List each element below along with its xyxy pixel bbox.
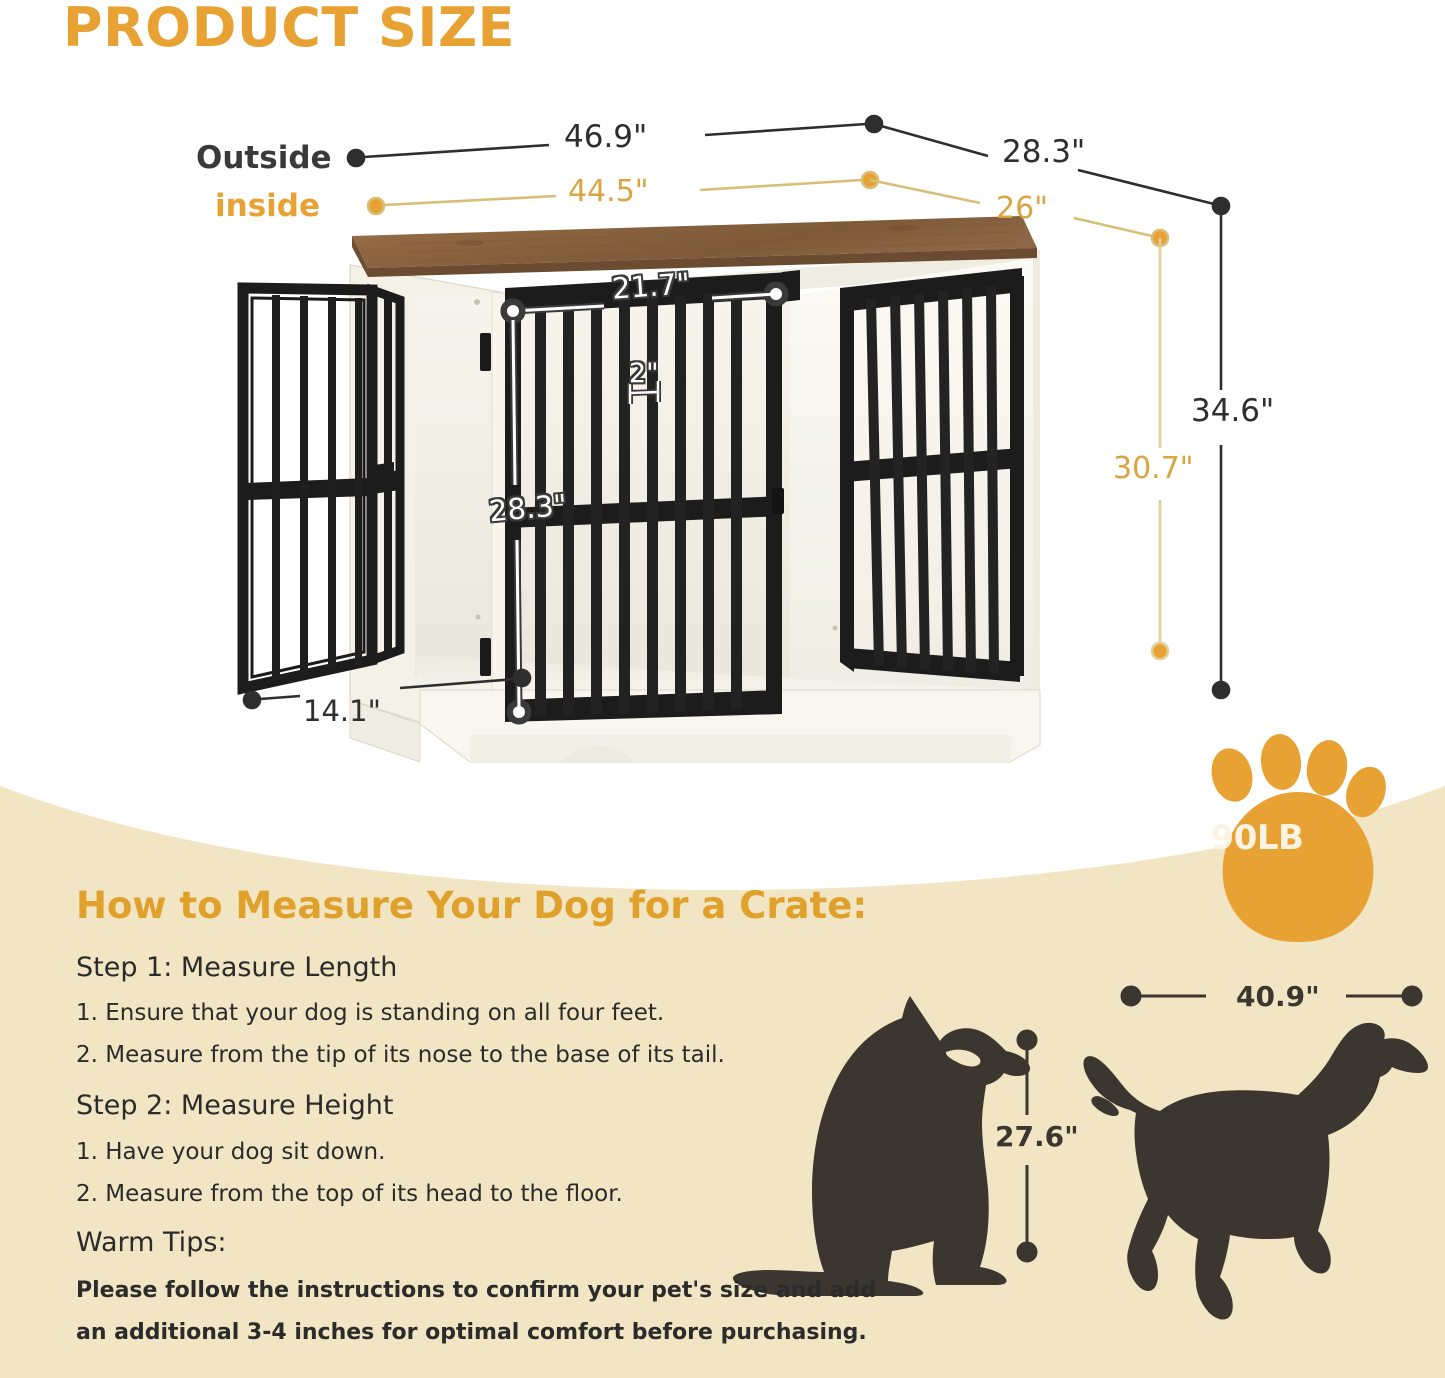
dim-line-inside-height (1152, 238, 1168, 659)
howto-section-heading: How to Measure Your Dog for a Crate: (76, 884, 867, 927)
dim-label-outside-width: 46.9" (564, 119, 647, 155)
step2-line1: 1. Have your dog sit down. (76, 1139, 385, 1165)
dim-label-door-height: 28.3" (488, 488, 569, 529)
step1-line1: 1. Ensure that your dog is standing on a… (76, 1000, 664, 1026)
standing-dog-silhouette (1083, 1023, 1428, 1320)
step1-title: Step 1: Measure Length (76, 952, 397, 983)
dim-label-outside-depth: 28.3" (1002, 134, 1085, 170)
product-illustration (0, 0, 1445, 1378)
step1-line2: 2. Measure from the tip of its nose to t… (76, 1042, 725, 1068)
sitting-dog-silhouette (733, 996, 1030, 1296)
weight-capacity-badge: 90LB (1203, 818, 1311, 858)
warm-tips-line2: an additional 3-4 inches for optimal com… (76, 1320, 867, 1345)
warm-tips-title: Warm Tips: (76, 1227, 227, 1258)
dog-length-label: 40.9" (1236, 980, 1320, 1013)
dim-line-outside-height (1213, 206, 1229, 698)
dim-label-inside-depth: 26" (996, 191, 1048, 226)
dim-label-bar-spacing: 2" (629, 358, 659, 389)
step2-line2: 2. Measure from the top of its head to t… (76, 1181, 623, 1207)
dim-label-inside-height: 30.7" (1113, 451, 1194, 486)
open-left-door[interactable] (243, 288, 400, 688)
dim-label-outside-height: 34.6" (1191, 393, 1274, 429)
dog-height-label: 27.6" (995, 1120, 1079, 1153)
step2-title: Step 2: Measure Height (76, 1090, 394, 1121)
warm-tips-line1: Please follow the instructions to confir… (76, 1278, 876, 1303)
dim-label-inside-width: 44.5" (568, 174, 649, 209)
dim-label-side-door-width: 14.1" (303, 694, 381, 728)
dim-label-door-width: 21.7" (611, 266, 691, 305)
